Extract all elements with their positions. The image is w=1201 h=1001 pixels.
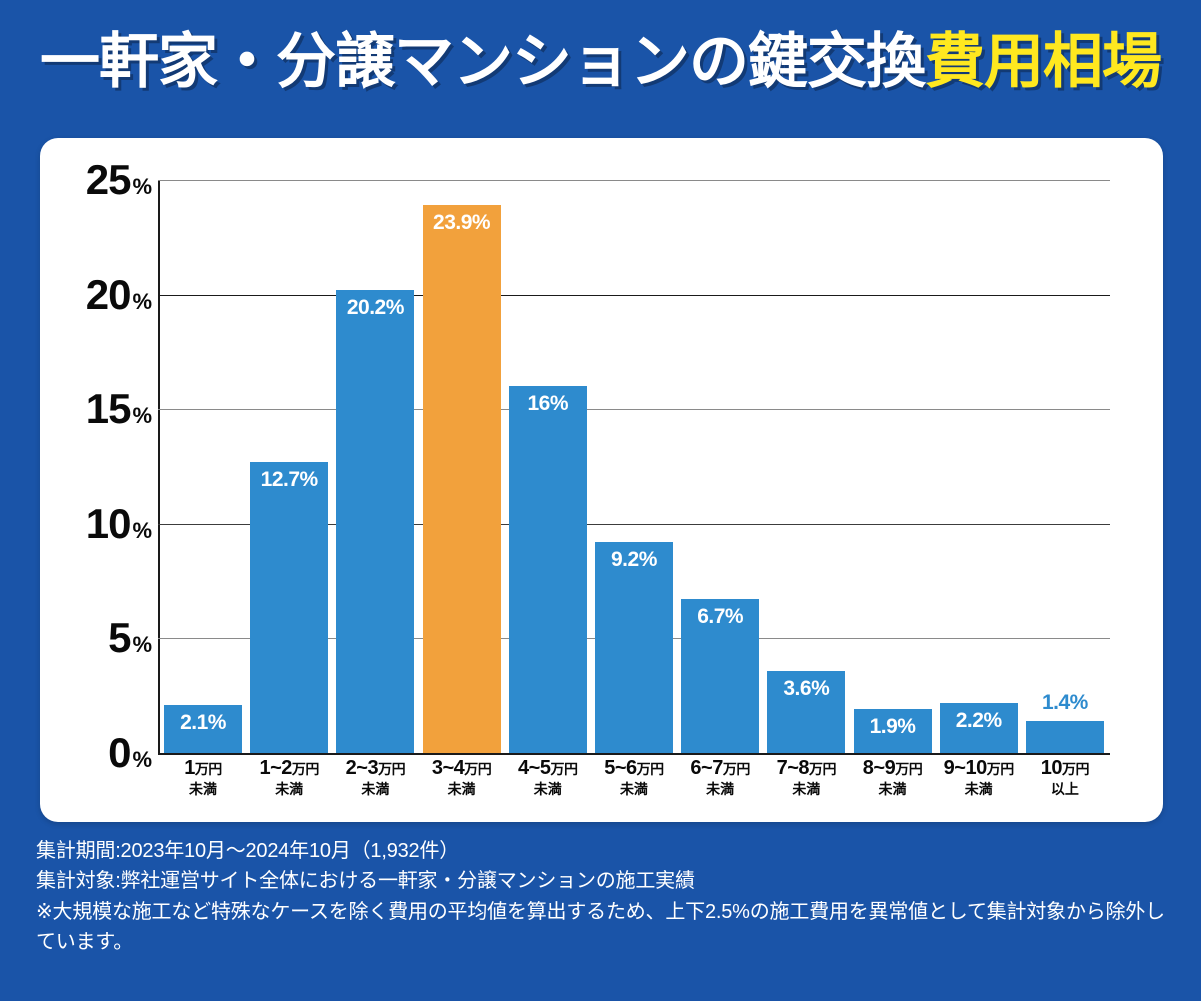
bar-value-label: 2.2% bbox=[940, 709, 1018, 733]
x-tick-unit: 万円 bbox=[987, 761, 1014, 777]
y-tick-value: 10 bbox=[86, 500, 131, 547]
x-tick-number: 9~10 bbox=[944, 757, 987, 779]
y-tick-unit: % bbox=[132, 174, 152, 199]
bar-value-label: 1.9% bbox=[854, 715, 932, 739]
bar-slot: 12.7% bbox=[250, 180, 328, 753]
bar-value-label: 20.2% bbox=[336, 296, 414, 320]
x-tick-number: 4~5 bbox=[518, 757, 550, 779]
x-tick-range: 9~10万円 bbox=[940, 758, 1018, 779]
bar-slot: 1.4% bbox=[1026, 180, 1104, 753]
x-tick-number: 3~4 bbox=[432, 757, 464, 779]
bar-slot: 3.6% bbox=[767, 180, 845, 753]
bar: 16% bbox=[509, 386, 587, 753]
x-tick-unit: 万円 bbox=[637, 761, 664, 777]
bar-slot: 1.9% bbox=[854, 180, 932, 753]
x-tick-range: 8~9万円 bbox=[854, 758, 932, 779]
bar-value-label: 9.2% bbox=[595, 548, 673, 572]
gridline-0 bbox=[158, 753, 1110, 755]
y-axis: 0%5%10%15%20%25% bbox=[40, 180, 152, 753]
footnotes: 集計期間:2023年10月〜2024年10月（1,932件） 集計対象:弊社運営… bbox=[36, 836, 1176, 958]
y-tick-unit: % bbox=[132, 518, 152, 543]
x-tick-number: 6~7 bbox=[690, 757, 722, 779]
x-tick-qualifier: 未満 bbox=[940, 782, 1018, 797]
x-tick: 5~6万円未満 bbox=[595, 758, 673, 820]
y-tick-value: 0 bbox=[108, 729, 130, 776]
y-tick-0: 0% bbox=[40, 729, 152, 777]
x-tick-range: 10万円 bbox=[1026, 758, 1104, 779]
y-tick-unit: % bbox=[132, 632, 152, 657]
x-tick: 9~10万円未満 bbox=[940, 758, 1018, 820]
x-tick: 10万円以上 bbox=[1026, 758, 1104, 820]
chart-card: 0%5%10%15%20%25% 2.1%12.7%20.2%23.9%16%9… bbox=[40, 138, 1163, 822]
x-tick-range: 3~4万円 bbox=[423, 758, 501, 779]
bar-slot: 2.1% bbox=[164, 180, 242, 753]
bar-value-label: 23.9% bbox=[423, 211, 501, 235]
y-tick-unit: % bbox=[132, 403, 152, 428]
x-tick-unit: 万円 bbox=[550, 761, 577, 777]
x-tick-qualifier: 未満 bbox=[423, 782, 501, 797]
bar-slot: 20.2% bbox=[336, 180, 414, 753]
bar-value-label: 1.4% bbox=[1026, 691, 1104, 715]
x-tick-unit: 万円 bbox=[895, 761, 922, 777]
x-tick-number: 5~6 bbox=[604, 757, 636, 779]
x-tick-qualifier: 未満 bbox=[595, 782, 673, 797]
x-tick: 6~7万円未満 bbox=[681, 758, 759, 820]
x-axis: 1万円未満1~2万円未満2~3万円未満3~4万円未満4~5万円未満5~6万円未満… bbox=[158, 758, 1110, 820]
bar: 6.7% bbox=[681, 599, 759, 753]
x-tick-range: 2~3万円 bbox=[336, 758, 414, 779]
x-tick-unit: 万円 bbox=[195, 761, 222, 777]
bar-highlighted: 23.9% bbox=[423, 205, 501, 753]
y-tick-unit: % bbox=[132, 747, 152, 772]
y-tick-20: 20% bbox=[40, 271, 152, 319]
x-tick-qualifier: 未満 bbox=[681, 782, 759, 797]
x-tick-qualifier: 未満 bbox=[767, 782, 845, 797]
bar-value-label: 16% bbox=[509, 392, 587, 416]
bar: 2.2% bbox=[940, 703, 1018, 753]
x-tick-number: 8~9 bbox=[863, 757, 895, 779]
bar-value-label: 3.6% bbox=[767, 677, 845, 701]
page-title-white: 一軒家・分譲マンションの鍵交換 bbox=[40, 28, 925, 95]
bar-series: 2.1%12.7%20.2%23.9%16%9.2%6.7%3.6%1.9%2.… bbox=[158, 180, 1110, 753]
x-tick-unit: 万円 bbox=[378, 761, 405, 777]
x-tick-number: 1 bbox=[184, 757, 195, 779]
y-tick-value: 20 bbox=[86, 271, 131, 318]
x-tick-number: 2~3 bbox=[346, 757, 378, 779]
x-tick-number: 7~8 bbox=[777, 757, 809, 779]
bar: 9.2% bbox=[595, 542, 673, 753]
y-tick-25: 25% bbox=[40, 156, 152, 204]
x-tick-unit: 万円 bbox=[809, 761, 836, 777]
bar: 1.4% bbox=[1026, 721, 1104, 753]
footnote-scope: 集計対象:弊社運営サイト全体における一軒家・分譲マンションの施工実績 bbox=[36, 866, 1176, 896]
bar-slot: 23.9% bbox=[423, 180, 501, 753]
x-tick: 1~2万円未満 bbox=[250, 758, 328, 820]
x-tick-unit: 万円 bbox=[292, 761, 319, 777]
y-tick-value: 15 bbox=[86, 385, 131, 432]
page-title: 一軒家・分譲マンションの鍵交換費用相場 bbox=[40, 32, 1161, 92]
y-tick-value: 5 bbox=[108, 614, 130, 661]
footnote-exclusion: ※大規模な施工など特殊なケースを除く費用の平均値を算出するため、上下2.5%の施… bbox=[36, 897, 1176, 958]
x-tick-range: 7~8万円 bbox=[767, 758, 845, 779]
x-tick-number: 1~2 bbox=[259, 757, 291, 779]
bar-value-label: 12.7% bbox=[250, 468, 328, 492]
y-tick-10: 10% bbox=[40, 500, 152, 548]
x-tick-unit: 万円 bbox=[723, 761, 750, 777]
x-tick-qualifier: 未満 bbox=[854, 782, 932, 797]
bar-value-label: 2.1% bbox=[164, 711, 242, 735]
bar-slot: 9.2% bbox=[595, 180, 673, 753]
x-tick: 8~9万円未満 bbox=[854, 758, 932, 820]
bar-value-label: 6.7% bbox=[681, 605, 759, 629]
x-tick-qualifier: 未満 bbox=[336, 782, 414, 797]
x-tick: 4~5万円未満 bbox=[509, 758, 587, 820]
x-tick-range: 5~6万円 bbox=[595, 758, 673, 779]
y-tick-unit: % bbox=[132, 289, 152, 314]
x-tick-qualifier: 未満 bbox=[250, 782, 328, 797]
bar: 3.6% bbox=[767, 671, 845, 754]
bar-slot: 16% bbox=[509, 180, 587, 753]
bar-slot: 6.7% bbox=[681, 180, 759, 753]
x-tick-range: 6~7万円 bbox=[681, 758, 759, 779]
x-tick-range: 1万円 bbox=[164, 758, 242, 779]
x-tick: 3~4万円未満 bbox=[423, 758, 501, 820]
x-tick: 7~8万円未満 bbox=[767, 758, 845, 820]
y-tick-5: 5% bbox=[40, 614, 152, 662]
x-tick-unit: 万円 bbox=[1062, 761, 1089, 777]
y-tick-15: 15% bbox=[40, 385, 152, 433]
x-tick-qualifier: 以上 bbox=[1026, 782, 1104, 797]
title-banner: 一軒家・分譲マンションの鍵交換費用相場 bbox=[0, 0, 1201, 118]
page-title-highlight: 費用相場 bbox=[925, 28, 1161, 95]
bar: 1.9% bbox=[854, 709, 932, 753]
x-tick-range: 1~2万円 bbox=[250, 758, 328, 779]
x-tick-number: 10 bbox=[1041, 757, 1062, 779]
x-tick: 2~3万円未満 bbox=[336, 758, 414, 820]
bar: 12.7% bbox=[250, 462, 328, 753]
bar-slot: 2.2% bbox=[940, 180, 1018, 753]
x-tick-qualifier: 未満 bbox=[509, 782, 587, 797]
x-tick-range: 4~5万円 bbox=[509, 758, 587, 779]
x-tick: 1万円未満 bbox=[164, 758, 242, 820]
x-tick-qualifier: 未満 bbox=[164, 782, 242, 797]
bar: 20.2% bbox=[336, 290, 414, 753]
footnote-period: 集計期間:2023年10月〜2024年10月（1,932件） bbox=[36, 836, 1176, 866]
y-tick-value: 25 bbox=[86, 156, 131, 203]
bar: 2.1% bbox=[164, 705, 242, 753]
x-tick-unit: 万円 bbox=[464, 761, 491, 777]
